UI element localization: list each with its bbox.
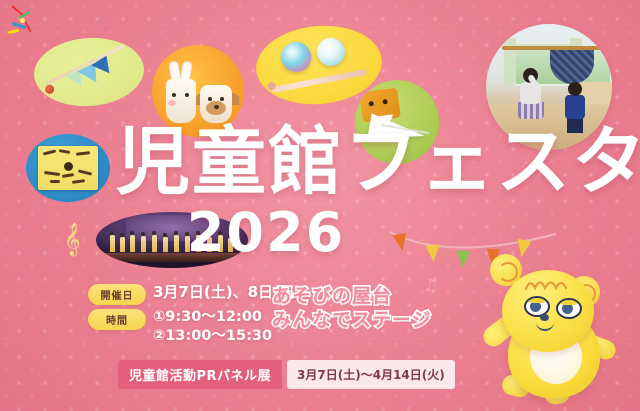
subtitle-block: あそびの屋台 みんなでステージ [272, 284, 452, 333]
spinning-top-shape [280, 41, 313, 74]
dog-eye-icon [220, 97, 224, 101]
badge-date-label: 開催日 [88, 284, 146, 305]
spinning-top-shape [316, 37, 346, 67]
yellow-card-shape [38, 146, 98, 190]
craft-eye-icon [368, 101, 374, 107]
photo-curtain [504, 38, 516, 84]
dog-eye-icon [208, 97, 212, 101]
scribble-mark [44, 171, 60, 176]
dog-nose-icon [214, 105, 219, 109]
scribble-mark [50, 180, 60, 183]
craft-eye-icon [382, 99, 388, 105]
scribble-mark [76, 151, 90, 155]
scribble-mark [62, 173, 74, 178]
poster-title-block: 児童館フェスタ 2026 [116, 126, 536, 264]
scribble-face [64, 162, 73, 171]
poster-canvas: 𝄞 ♫ 児童館フェスタ 2026 開催日 3月7日(土)、8日(日) 時間 ①9… [0, 0, 640, 411]
event-time-values: ①9:30〜12:00 ②13:00〜15:30 [153, 309, 272, 345]
subtitle-line-2: みんなでステージ [272, 308, 452, 332]
rabbit-eye-icon [172, 93, 176, 97]
scribble-mark [43, 149, 56, 155]
mascot-bangs [524, 276, 568, 292]
panel-exhibition-label: 児童館活動PRパネル展 [118, 360, 282, 389]
kids-drawing-card-image [26, 134, 110, 202]
rabbit-eye-icon [185, 93, 189, 97]
scribble-mark [72, 179, 85, 184]
subtitle-line-1: あそびの屋台 [272, 284, 452, 308]
mascot-eye-right [556, 298, 582, 319]
poster-year: 2026 [116, 201, 416, 264]
badge-time-label: 時間 [88, 309, 146, 330]
stick-shape [272, 69, 367, 93]
scribble-mark [78, 169, 92, 175]
rabbit-cheek-shape [168, 100, 176, 106]
scribble-mark [59, 149, 70, 154]
panel-exhibition-period: 3月7日(土)〜4月14日(火) [287, 360, 455, 389]
event-time-slot-1: ①9:30〜12:00 [153, 309, 272, 326]
panel-exhibition-bar: 児童館活動PRパネル展 3月7日(土)〜4月14日(火) [118, 360, 455, 389]
dart-tip-shape [45, 84, 55, 94]
event-time-slot-2: ②13:00〜15:30 [153, 328, 272, 345]
mascot-character [474, 252, 634, 411]
treble-clef-icon: 𝄞 [64, 225, 81, 253]
mascot-ear-swirl-icon [498, 262, 518, 282]
page-title: 児童館フェスタ [116, 126, 536, 199]
